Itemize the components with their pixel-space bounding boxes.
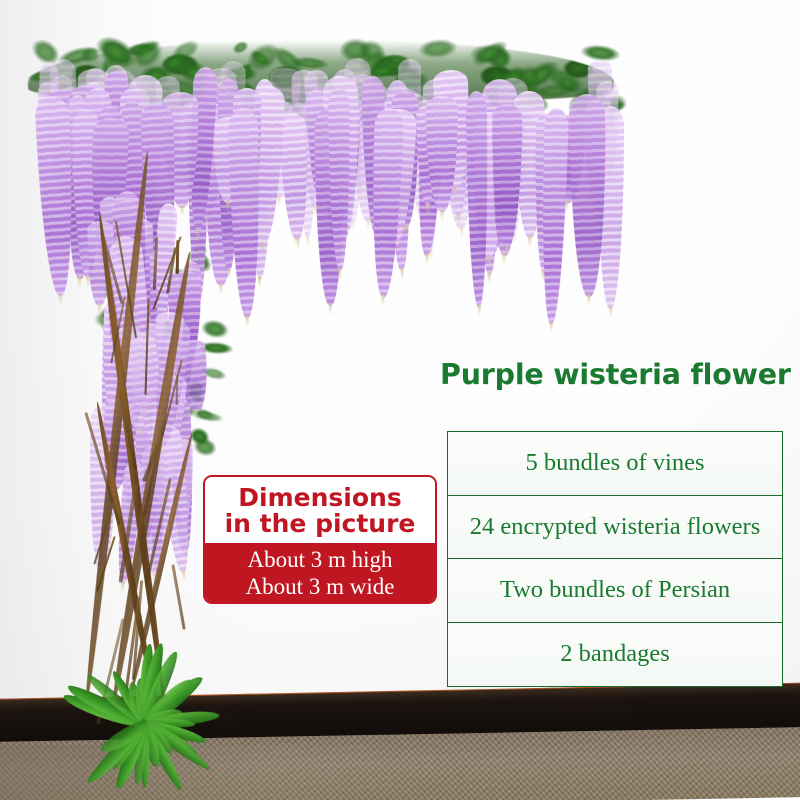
dimensions-badge-values: About 3 m high About 3 m wide — [205, 543, 435, 604]
spec-table-row: 2 bandages — [448, 623, 782, 687]
dimensions-heading-line-1: Dimensions — [238, 485, 401, 511]
spec-table-row: 24 encrypted wisteria flowers — [448, 496, 782, 560]
product-image-canvas: Purple wisteria flower 5 bundles of vine… — [0, 0, 800, 800]
dimension-height-value: About 3 m high — [247, 547, 392, 574]
spec-table-row: Two bundles of Persian — [448, 559, 782, 623]
dimension-width-value: About 3 m wide — [246, 574, 395, 601]
leaf-cluster — [469, 44, 510, 64]
spec-table-row: 5 bundles of vines — [448, 432, 782, 496]
dimensions-heading-line-2: in the picture — [225, 511, 416, 537]
spec-table: 5 bundles of vines 24 encrypted wisteria… — [447, 431, 783, 687]
dimensions-badge-heading: Dimensions in the picture — [205, 477, 435, 543]
page-title: Purple wisteria flower — [440, 358, 788, 391]
spec-row-label: Two bundles of Persian — [500, 578, 730, 603]
spec-row-label: 24 encrypted wisteria flowers — [470, 515, 761, 540]
spec-row-label: 5 bundles of vines — [526, 451, 705, 476]
dimensions-badge: Dimensions in the picture About 3 m high… — [203, 475, 437, 604]
spec-row-label: 2 bandages — [560, 642, 670, 667]
floor-shadow — [0, 745, 430, 800]
